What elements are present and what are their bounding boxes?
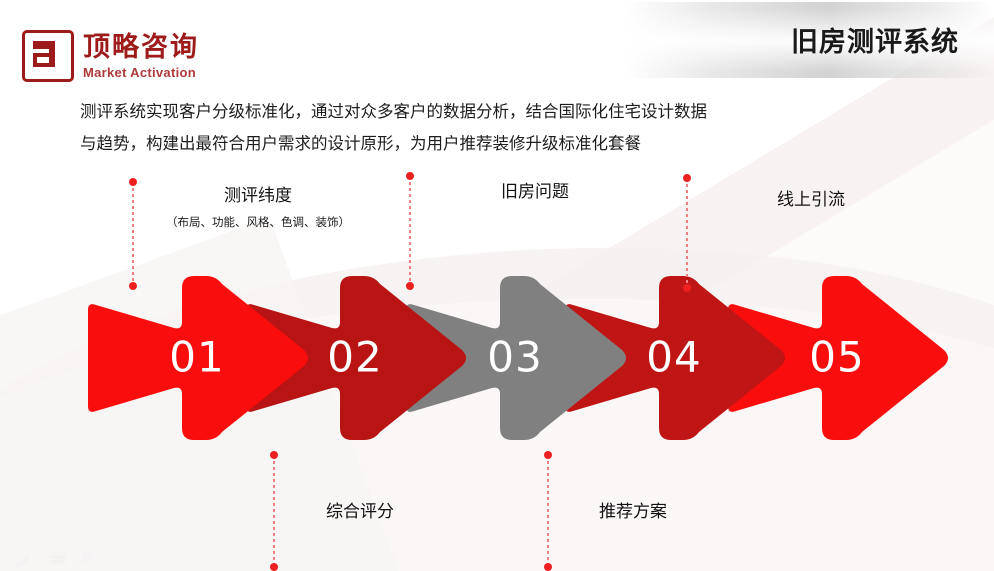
- callout-step-4: 推荐方案: [538, 500, 728, 524]
- logo-text: 顶略咨询 Market Activation: [83, 34, 199, 79]
- page-title: 旧房测评系统: [791, 20, 959, 59]
- company-logo: 顶略咨询 Market Activation: [22, 30, 199, 82]
- callout-step-3-title: 旧房问题: [440, 180, 630, 204]
- logo-chinese-name: 顶略咨询: [83, 34, 199, 61]
- callout-step-2-title: 综合评分: [265, 500, 455, 524]
- callout-step-1: 测评纬度 （布局、功能、风格、色调、装饰）: [158, 184, 358, 233]
- slide-canvas: 旧房测评系统 顶略咨询 Market Activation 测评系统实现客户分级…: [0, 0, 994, 571]
- leader-dot-bottom: [406, 282, 414, 290]
- leader-dot-top: [683, 174, 691, 182]
- callout-step-5: 线上引流: [716, 188, 906, 212]
- list-icon: [47, 552, 67, 565]
- intro-line-1: 测评系统实现客户分级标准化，通过对众多客户的数据分析，结合国际化住宅设计数据: [80, 96, 940, 128]
- watermark-icons: [14, 549, 96, 565]
- leader-dot-top: [406, 172, 414, 180]
- leader-dot-bottom: [683, 284, 691, 292]
- leader-line-step-2: [273, 455, 275, 567]
- leader-dot-bottom: [129, 282, 137, 290]
- intro-line-2: 与趋势，构建出最符合用户需求的设计原形，为用户推荐装修升级标准化套餐: [80, 128, 940, 160]
- leader-line-step-3: [409, 176, 411, 286]
- company-mark-icon: [22, 30, 74, 82]
- leader-line-step-4: [547, 455, 549, 567]
- callout-step-4-title: 推荐方案: [538, 500, 728, 524]
- callout-step-3: 旧房问题: [440, 180, 630, 204]
- callout-step-5-title: 线上引流: [716, 188, 906, 212]
- leader-dot-bottom: [544, 563, 552, 571]
- callout-step-2: 综合评分: [265, 500, 455, 524]
- share-icon: [83, 549, 96, 565]
- process-arrow-1[interactable]: 01: [82, 272, 312, 444]
- leader-dot-top: [270, 451, 278, 459]
- leader-dot-top: [544, 451, 552, 459]
- leader-line-step-5: [686, 178, 688, 288]
- callout-step-1-title: 测评纬度: [158, 184, 358, 208]
- process-arrow-row: 05 04 03 02 01: [0, 272, 994, 444]
- callout-step-1-sublabel: （布局、功能、风格、色调、装饰）: [158, 214, 358, 233]
- leader-dot-bottom: [270, 563, 278, 571]
- logo-english-name: Market Activation: [83, 66, 199, 79]
- pencil-icon: [14, 555, 30, 569]
- intro-paragraph: 测评系统实现客户分级标准化，通过对众多客户的数据分析，结合国际化住宅设计数据 与…: [80, 96, 940, 160]
- leader-dot-top: [129, 178, 137, 186]
- leader-line-step-1: [132, 182, 134, 286]
